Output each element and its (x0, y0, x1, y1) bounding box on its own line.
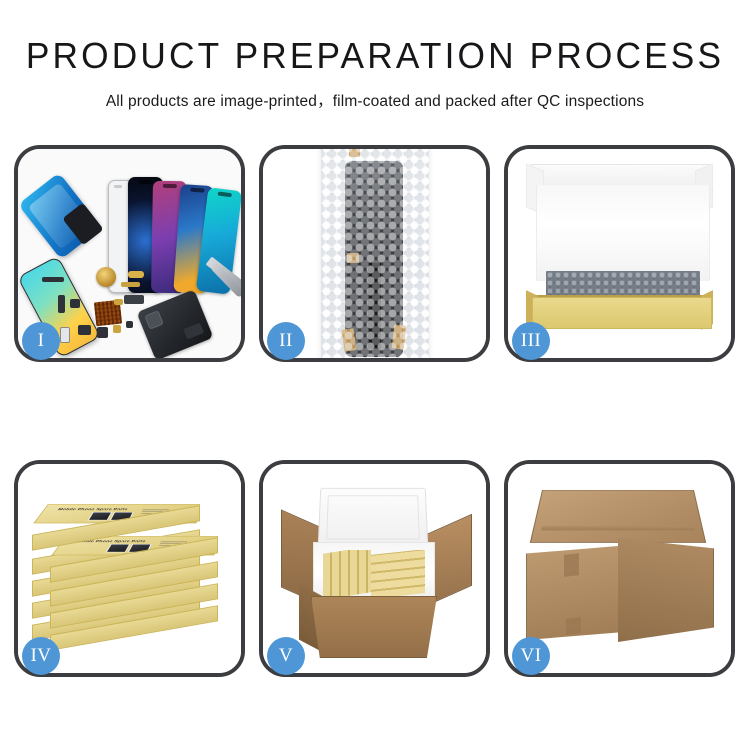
tape-piece-icon (341, 328, 356, 351)
flex-cable-icon (58, 295, 65, 313)
carton-flap-tab-icon (564, 553, 579, 577)
box-label-phone-image (88, 512, 113, 521)
gold-connector-icon (128, 271, 144, 278)
button-part-icon (78, 325, 91, 335)
gold-flex-icon (121, 282, 140, 287)
header: PRODUCT PREPARATION PROCESS All products… (0, 38, 750, 111)
step-panel-1: I (14, 145, 245, 362)
carton-front-icon (311, 596, 437, 658)
step-badge-5: V (267, 637, 305, 675)
box-stack-group: Mobile Phone Spare Parts Mobile P (26, 482, 232, 662)
tape-piece-icon (391, 324, 405, 349)
stacked-box-printed: Mobile Phone Spare Parts (32, 504, 200, 522)
step-badge-6: VI (512, 637, 550, 675)
shipping-carton-icon (524, 490, 716, 652)
page-title: PRODUCT PREPARATION PROCESS (8, 38, 743, 74)
step-panel-2: II (259, 145, 490, 362)
step-panel-5: V (259, 460, 490, 677)
step-panel-6: VI (504, 460, 735, 677)
product-preparation-infographic: PRODUCT PREPARATION PROCESS All products… (0, 0, 750, 750)
step-panel-3: III (504, 145, 735, 362)
step-badge-1: I (22, 322, 60, 360)
bubble-wrap-bag-icon (321, 149, 429, 358)
bubble-bag-group (321, 149, 429, 358)
camera-module-icon (124, 295, 144, 304)
step-badge-3: III (512, 322, 550, 360)
speaker-module-icon (96, 267, 116, 287)
small-part-icon (70, 299, 80, 308)
carton-top-face-icon (530, 490, 707, 543)
phone-back-housing-icon (137, 289, 214, 358)
sim-tray-icon (113, 325, 121, 333)
box-front-panel-icon (532, 297, 712, 329)
step-panel-4: Mobile Phone Spare Parts Mobile P (14, 460, 245, 677)
screw-icon (126, 321, 133, 328)
step-badge-2: II (267, 322, 305, 360)
flex-strip-icon (42, 277, 64, 282)
foam-lid-icon (318, 488, 429, 548)
carton-tape-seam-icon (541, 526, 695, 530)
gold-contact-icon (114, 299, 123, 305)
box-back-panel-icon (536, 185, 710, 281)
page-subtitle: All products are image-printed，film-coat… (0, 89, 750, 111)
packed-boxes-row (323, 550, 371, 596)
screen-flex-tail-icon (368, 263, 381, 349)
carton-right-face-icon (618, 538, 714, 642)
packed-boxes-group (323, 550, 425, 596)
tape-piece-icon (349, 149, 360, 157)
carton-flap-tab-icon (566, 617, 581, 635)
step-badge-4: IV (22, 637, 60, 675)
white-component-icon (60, 327, 70, 343)
box-label-phone-image (106, 544, 131, 553)
process-steps-grid: I (14, 145, 736, 677)
tape-piece-icon (347, 253, 359, 263)
vibrator-part-icon (97, 327, 108, 338)
packed-boxes-row (371, 550, 425, 596)
box-label-text: Mobile Phone Spare Parts (57, 508, 129, 511)
